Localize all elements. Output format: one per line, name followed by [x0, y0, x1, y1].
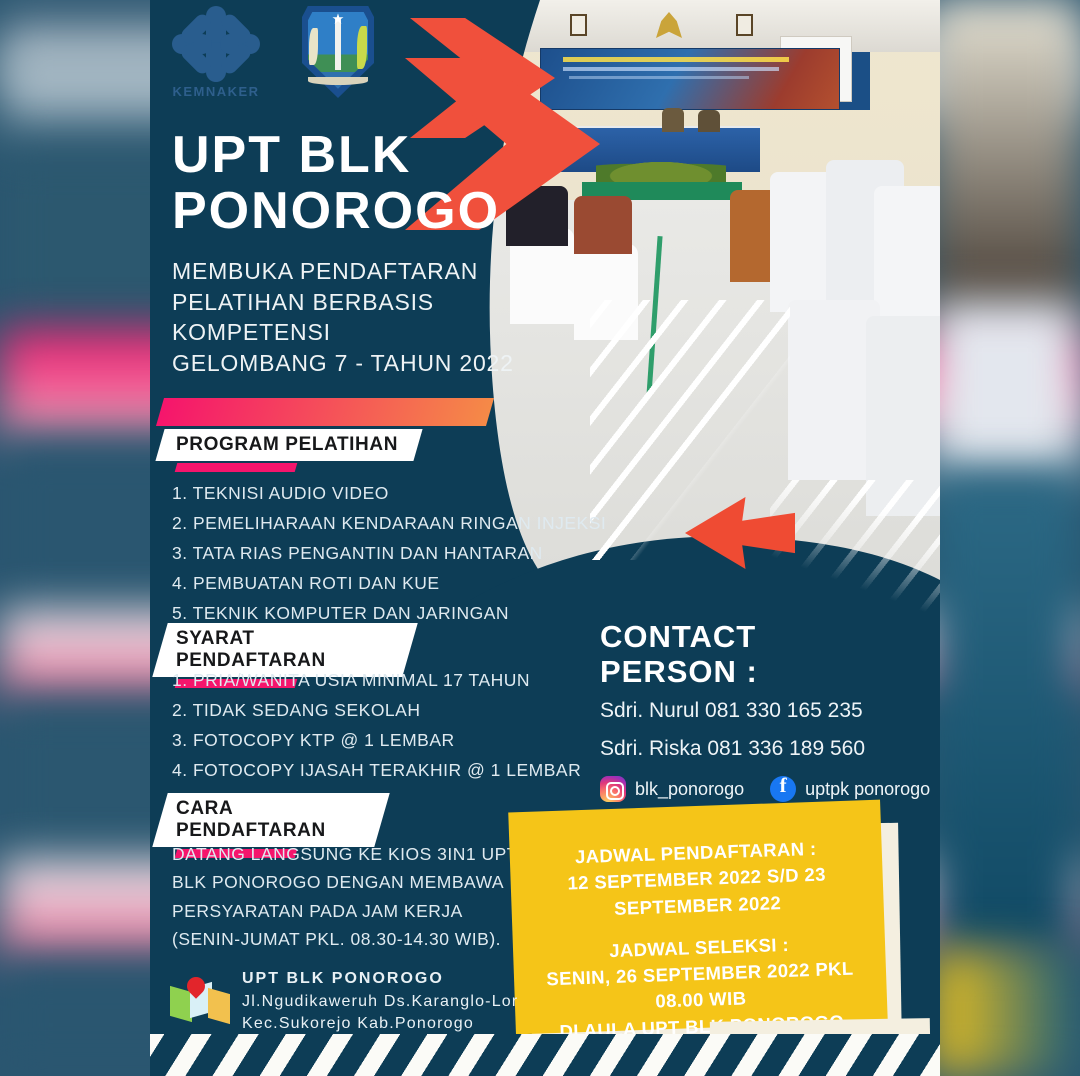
list-item: 2. TIDAK SEDANG SEKOLAH	[172, 695, 581, 725]
photo-seated-official-2	[698, 110, 720, 132]
program-list: 1. TEKNISI AUDIO VIDEO 2. PEMELIHARAAN K…	[172, 478, 606, 628]
page-title: UPT BLK PONOROGO	[172, 128, 500, 239]
section-title-cara: CARA PENDAFTARAN	[152, 793, 389, 847]
photo-seated-official-1	[662, 108, 684, 132]
subtitle-line: PELATIHAN BERBASIS	[172, 287, 514, 318]
instagram-link[interactable]: blk_ponorogo	[600, 776, 744, 802]
contact-heading-line-2: PERSON :	[600, 655, 930, 690]
photo-event-banner	[540, 48, 840, 110]
kemnaker-wordmark: KEMNAKER	[170, 84, 262, 99]
cara-line: DATANG LANGSUNG KE KIOS 3IN1 UPT	[172, 840, 518, 868]
instagram-icon	[600, 776, 626, 802]
facebook-handle: uptpk ponorogo	[805, 779, 930, 800]
photo-portrait-left	[570, 14, 587, 36]
facebook-icon	[770, 776, 796, 802]
list-item: 1. TEKNISI AUDIO VIDEO	[172, 478, 606, 508]
list-item: 4. PEMBUATAN ROTI DAN KUE	[172, 568, 606, 598]
gradient-bar	[156, 398, 494, 426]
east-java-emblem-icon	[302, 6, 374, 98]
contact-block: CONTACT PERSON : Sdri. Nurul 081 330 165…	[600, 620, 930, 802]
photo-chair	[574, 244, 638, 340]
photo-ceiling	[470, 0, 940, 52]
contact-person-1[interactable]: Sdri. Nurul 081 330 165 235	[600, 695, 930, 727]
poster-card: KEMNAKER UPT BLK PONOROGO MEMBUKA PENDAF…	[150, 0, 940, 1076]
contact-heading-line-1: CONTACT	[600, 620, 930, 655]
address-name: UPT BLK PONOROGO	[242, 968, 518, 991]
pink-accent-bar	[175, 463, 298, 472]
social-links: blk_ponorogo uptpk ponorogo	[600, 776, 930, 802]
list-item: 1. PRIA/WANITA USIA MINIMAL 17 TAHUN	[172, 665, 581, 695]
photo-attendee	[574, 196, 632, 254]
subtitle-line: KOMPETENSI	[172, 317, 514, 348]
cara-line: PERSYARATAN PADA JAM KERJA	[172, 897, 518, 925]
title-line-2: PONOROGO	[172, 184, 500, 240]
address-block: UPT BLK PONOROGO Jl.Ngudikaweruh Ds.Kara…	[170, 968, 518, 1036]
list-item: 3. FOTOCOPY KTP @ 1 LEMBAR	[172, 725, 581, 755]
photo-portrait-right	[736, 14, 753, 36]
bottom-diagonal-stripes	[150, 1034, 940, 1076]
backdrop-right-teal	[930, 470, 1080, 970]
title-line-1: UPT BLK	[172, 128, 500, 184]
schedule-registration-dates: 12 SEPTEMBER 2022 S/D 23 SEPTEMBER 2022	[526, 860, 868, 924]
contact-heading: CONTACT PERSON :	[600, 620, 930, 689]
cara-text: DATANG LANGSUNG KE KIOS 3IN1 UPT BLK PON…	[172, 840, 518, 953]
backdrop-right-photo	[930, 0, 1080, 330]
backdrop-right-yellow	[930, 950, 1080, 1076]
contact-person-2[interactable]: Sdri. Riska 081 336 189 560	[600, 733, 930, 765]
map-pin-icon	[170, 979, 228, 1025]
kemnaker-pinwheel-icon	[178, 6, 254, 82]
section-header-program: PROGRAM PELATIHAN	[160, 398, 490, 472]
cara-line: (SENIN-JUMAT PKL. 08.30-14.30 WIB).	[172, 925, 518, 953]
address-street: Jl.Ngudikaweruh Ds.Karanglo-Lor	[242, 991, 518, 1014]
subtitle-line: GELOMBANG 7 - TAHUN 2022	[172, 348, 514, 379]
backdrop-right-shirts	[930, 300, 1080, 480]
syarat-list: 1. PRIA/WANITA USIA MINIMAL 17 TAHUN 2. …	[172, 665, 581, 785]
list-item: 2. PEMELIHARAAN KENDARAAN RINGAN INJEKSI	[172, 508, 606, 538]
address-district: Kec.Sukorejo Kab.Ponorogo	[242, 1013, 518, 1036]
subtitle-line: MEMBUKA PENDAFTARAN	[172, 256, 514, 287]
facebook-link[interactable]: uptpk ponorogo	[770, 776, 930, 802]
section-title-program: PROGRAM PELATIHAN	[155, 429, 422, 461]
subtitle: MEMBUKA PENDAFTARAN PELATIHAN BERBASIS K…	[172, 256, 514, 378]
list-item: 3. TATA RIAS PENGANTIN DAN HANTARAN	[172, 538, 606, 568]
logo-row: KEMNAKER	[170, 6, 374, 99]
address-text: UPT BLK PONOROGO Jl.Ngudikaweruh Ds.Kara…	[242, 968, 518, 1036]
cara-line: BLK PONOROGO DENGAN MEMBAWA	[172, 868, 518, 896]
instagram-handle: blk_ponorogo	[635, 779, 744, 800]
list-item: 4. FOTOCOPY IJASAH TERAKHIR @ 1 LEMBAR	[172, 755, 581, 785]
photo-attendee	[866, 316, 940, 516]
schedule-card: JADWAL PENDAFTARAN : 12 SEPTEMBER 2022 S…	[508, 800, 888, 1035]
kemnaker-logo: KEMNAKER	[170, 6, 262, 99]
